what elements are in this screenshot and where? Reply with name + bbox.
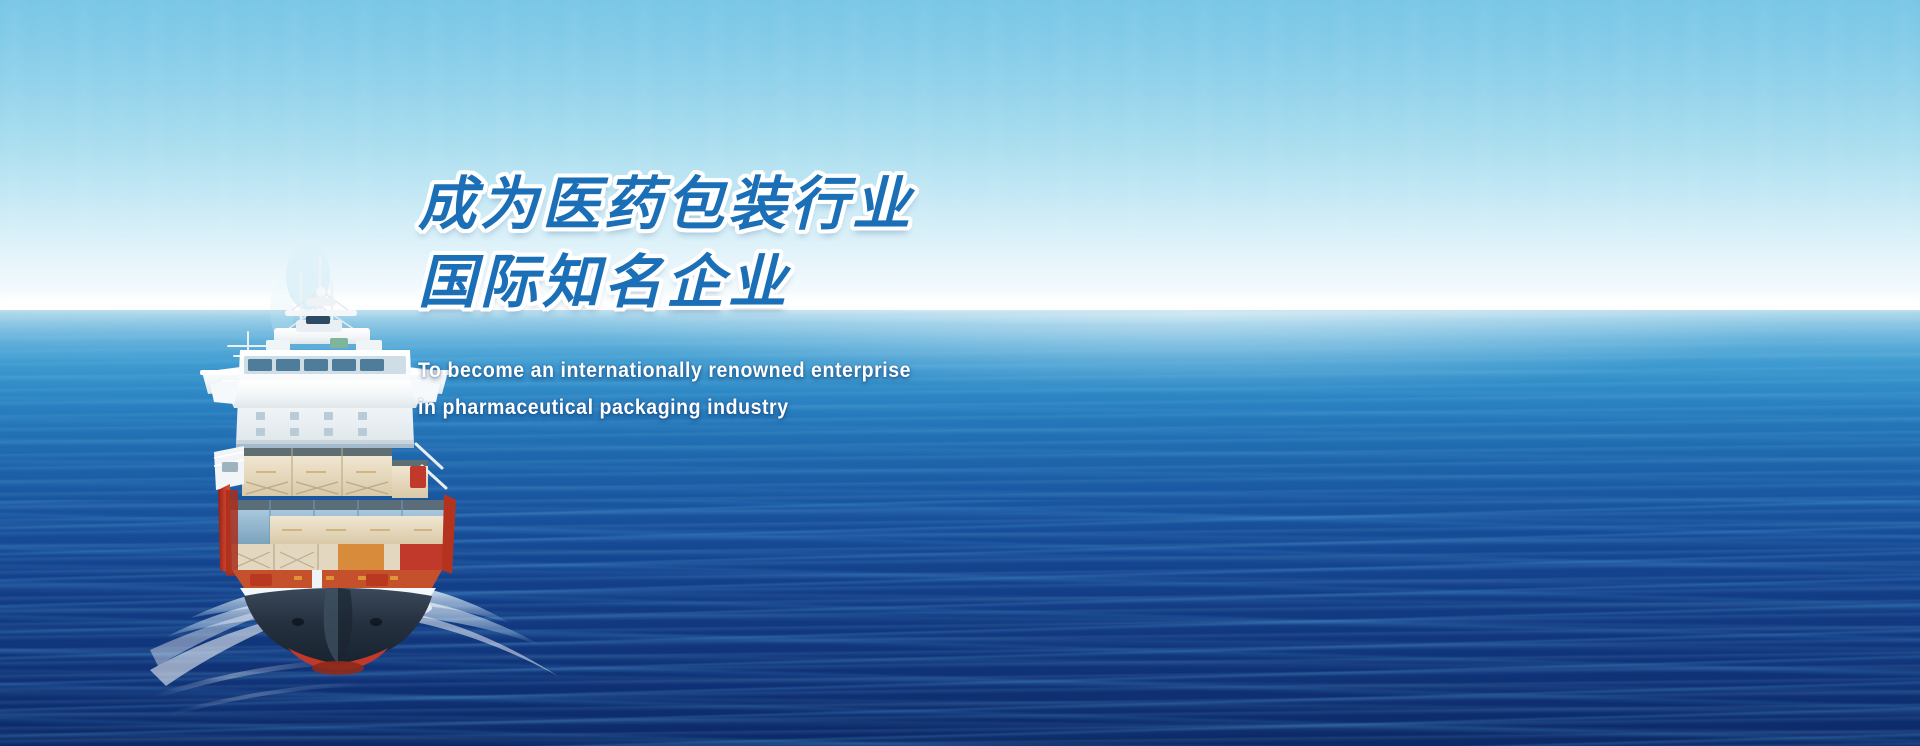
banner-copy: 成为医药包装行业 国际知名企业 To become an internation…: [418, 168, 1178, 426]
hero-banner: 成为医药包装行业 国际知名企业 To become an internation…: [0, 0, 1920, 746]
subtitle-line-2: in pharmaceutical packaging industry: [418, 389, 1125, 426]
headline-line-1: 成为医药包装行业: [418, 168, 1178, 242]
subtitle-line-1: To become an internationally renowned en…: [418, 352, 1125, 389]
banner-subtitle: To become an internationally renowned en…: [418, 352, 1178, 426]
headline-line-2: 国际知名企业: [418, 246, 1178, 320]
